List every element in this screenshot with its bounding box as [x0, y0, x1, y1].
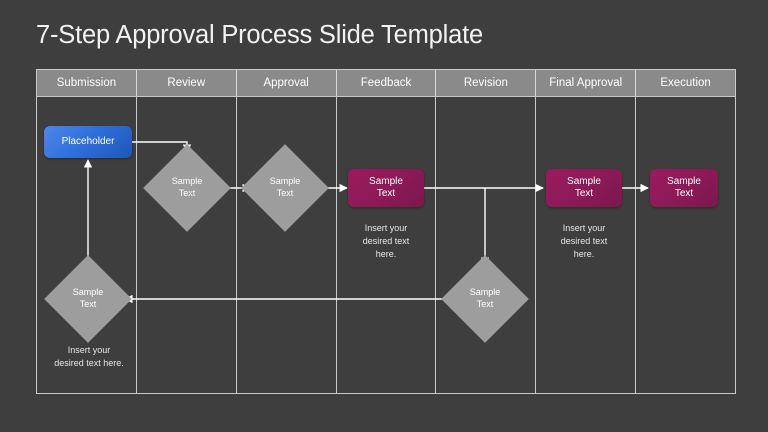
node-label-line2: Text [477, 299, 494, 309]
caption-line1: Insert your [365, 223, 408, 233]
column-header-revision: Revision [436, 70, 536, 96]
caption-final-approval: Insert your desired text here. [539, 222, 629, 261]
caption-line3: here. [574, 249, 595, 259]
node-approval-diamond[interactable]: Sample Text [254, 157, 316, 219]
node-label-line1: Sample [73, 287, 104, 297]
caption-feedback: Insert your desired text here. [341, 222, 431, 261]
column-lane-review [137, 97, 237, 393]
node-label-line2: Text [675, 188, 693, 199]
column-header-review: Review [137, 70, 237, 96]
node-feedback-rect[interactable]: Sample Text [348, 169, 424, 207]
column-header-label: Final Approval [549, 77, 622, 89]
node-label: Placeholder [62, 136, 115, 149]
column-header-label: Review [167, 77, 205, 89]
node-label-line1: Sample [667, 176, 701, 187]
column-header-final-approval: Final Approval [536, 70, 636, 96]
node-final-approval-rect[interactable]: Sample Text [546, 169, 622, 207]
caption-line2: desired text [561, 236, 608, 246]
node-label: Sample Text [57, 268, 119, 330]
caption-line1: Insert your [563, 223, 606, 233]
node-label: Sample Text [254, 157, 316, 219]
column-lane-revision [436, 97, 536, 393]
caption-line3: here. [376, 249, 397, 259]
page-title: 7-Step Approval Process Slide Template [36, 21, 483, 50]
table-header-row: Submission Review Approval Feedback Revi… [36, 69, 736, 97]
column-lane-approval [237, 97, 337, 393]
node-label-line2: Text [277, 188, 294, 198]
node-submission-placeholder[interactable]: Placeholder [44, 126, 132, 158]
node-label: Sample Text [156, 157, 218, 219]
node-label: Sample Text [454, 268, 516, 330]
column-header-label: Execution [660, 77, 711, 89]
column-header-label: Revision [464, 77, 508, 89]
node-label-line2: Text [179, 188, 196, 198]
column-header-feedback: Feedback [337, 70, 437, 96]
caption-submission-rework: Insert your desired text here. [40, 344, 138, 370]
node-label-line1: Sample [369, 176, 403, 187]
column-lane-execution [636, 97, 735, 393]
node-revision-diamond[interactable]: Sample Text [454, 268, 516, 330]
node-label-line2: Text [80, 299, 97, 309]
caption-line2: desired text [363, 236, 410, 246]
node-label-line2: Text [377, 188, 395, 199]
column-header-approval: Approval [237, 70, 337, 96]
column-header-execution: Execution [636, 70, 735, 96]
column-header-submission: Submission [37, 70, 137, 96]
caption-line1: Insert your [68, 345, 111, 355]
column-header-label: Feedback [361, 77, 412, 89]
node-review-diamond[interactable]: Sample Text [156, 157, 218, 219]
node-label-line2: Text [575, 188, 593, 199]
column-header-label: Approval [263, 77, 308, 89]
node-label-line1: Sample [172, 176, 203, 186]
node-submission-rework-diamond[interactable]: Sample Text [57, 268, 119, 330]
node-label-line1: Sample [270, 176, 301, 186]
node-label-line1: Sample [470, 287, 501, 297]
slide-canvas: 7-Step Approval Process Slide Template S… [0, 0, 768, 432]
column-header-label: Submission [57, 77, 116, 89]
node-execution-rect[interactable]: Sample Text [650, 169, 718, 207]
node-label-line1: Sample [567, 176, 601, 187]
caption-line2: desired text here. [54, 358, 124, 368]
